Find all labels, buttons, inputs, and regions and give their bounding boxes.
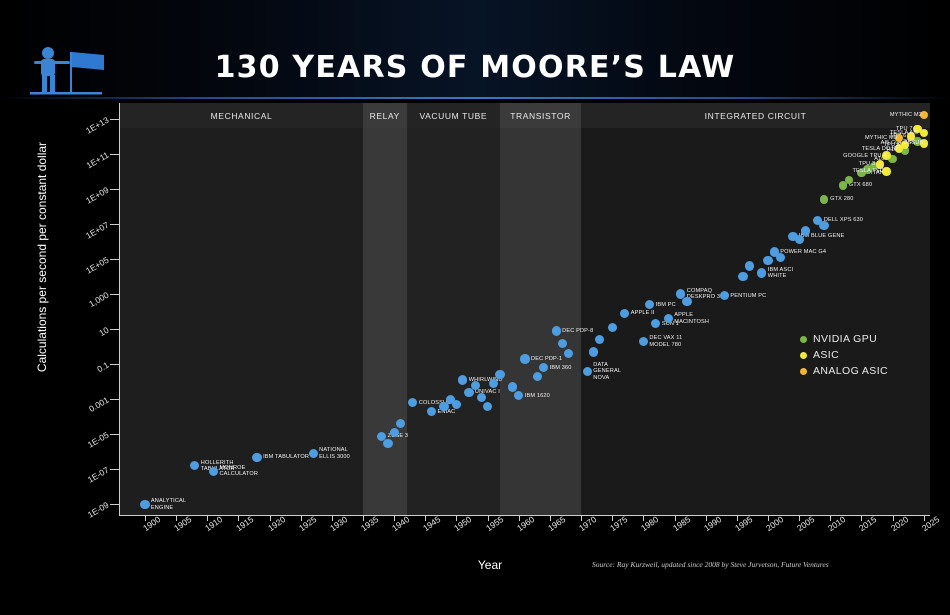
y-axis-tick-label: 1E-09 bbox=[54, 500, 111, 539]
header-divider bbox=[0, 97, 950, 99]
y-axis-tick bbox=[110, 364, 119, 365]
data-point-label: GTX 680 bbox=[849, 182, 872, 188]
data-point[interactable] bbox=[508, 382, 517, 391]
data-point[interactable] bbox=[639, 337, 648, 346]
source-credit: Source: Ray Kurzweil, updated since 2008… bbox=[592, 560, 829, 569]
data-point-label: DELL XPS 630 bbox=[824, 217, 863, 223]
data-point-label: GOOGLE TPU 4 bbox=[843, 153, 886, 159]
y-axis-title: Calculations per second per constant dol… bbox=[35, 107, 49, 407]
data-point[interactable] bbox=[738, 272, 747, 281]
data-point[interactable] bbox=[520, 354, 529, 363]
data-point-label: GTX 280 bbox=[830, 196, 853, 202]
data-point[interactable] bbox=[390, 428, 399, 437]
data-point-label: IBM 1620 bbox=[525, 393, 550, 399]
data-point[interactable] bbox=[608, 323, 617, 332]
data-point-label: POWER MAC G4 bbox=[780, 249, 826, 255]
era-band bbox=[363, 103, 407, 515]
data-point-label: MONROE CALCULATOR bbox=[219, 465, 258, 478]
data-point-label: TESLA FSD bbox=[852, 168, 884, 174]
y-axis-tick bbox=[110, 504, 119, 505]
y-axis-tick-label: 1E+07 bbox=[54, 220, 111, 259]
y-axis-tick bbox=[110, 399, 119, 400]
data-point[interactable] bbox=[458, 375, 467, 384]
y-axis-tick bbox=[110, 154, 119, 155]
y-axis-tick-label: 1E-05 bbox=[54, 430, 111, 469]
x-axis-tick bbox=[301, 515, 302, 521]
y-axis-tick bbox=[110, 329, 119, 330]
data-point[interactable] bbox=[309, 449, 318, 458]
data-point[interactable] bbox=[471, 381, 480, 390]
legend-item[interactable]: ASIC bbox=[800, 349, 888, 361]
legend-swatch bbox=[800, 352, 807, 359]
data-point[interactable] bbox=[533, 372, 542, 381]
data-point[interactable] bbox=[664, 314, 673, 323]
header-banner: 130 YEARS OF MOORE’S LAW bbox=[0, 0, 950, 98]
data-point-label: DEC PDP-1 bbox=[531, 356, 562, 362]
legend-item[interactable]: NVIDIA GPU bbox=[800, 333, 888, 345]
legend-label: ANALOG ASIC bbox=[813, 365, 888, 377]
data-point[interactable] bbox=[801, 226, 810, 235]
data-point-label: MYTHIC M2 bbox=[890, 112, 922, 118]
data-point[interactable] bbox=[495, 370, 504, 379]
x-axis-tick bbox=[675, 515, 676, 521]
data-point[interactable] bbox=[383, 439, 392, 448]
legend-label: ASIC bbox=[813, 349, 839, 361]
data-point[interactable] bbox=[757, 268, 766, 277]
y-axis-tick-label: 10 bbox=[54, 325, 111, 364]
y-axis-tick bbox=[110, 469, 119, 470]
plot-area bbox=[120, 103, 930, 515]
data-point[interactable] bbox=[776, 253, 785, 262]
data-point[interactable] bbox=[819, 221, 828, 230]
y-axis-tick-label: 0.001 bbox=[54, 395, 111, 434]
data-point[interactable] bbox=[209, 467, 218, 476]
data-point-label: TPU 3 bbox=[859, 161, 876, 167]
data-point-label: IBM ASCI WHITE bbox=[768, 267, 793, 280]
era-strip: MECHANICALRELAYVACUUM TUBETRANSISTORINTE… bbox=[120, 103, 930, 128]
era-label: RELAY bbox=[363, 111, 407, 121]
y-axis-tick-label: 1E+13 bbox=[54, 114, 111, 153]
y-axis-tick-label: 1E+11 bbox=[54, 149, 111, 188]
era-band bbox=[500, 103, 581, 515]
x-axis-tick bbox=[893, 515, 894, 521]
x-axis-tick bbox=[488, 515, 489, 521]
y-axis-line bbox=[119, 103, 120, 515]
data-point[interactable] bbox=[589, 347, 598, 356]
data-point[interactable] bbox=[558, 339, 567, 348]
legend-swatch bbox=[800, 336, 807, 343]
y-axis-tick bbox=[110, 294, 119, 295]
x-axis-tick bbox=[706, 515, 707, 521]
x-axis-tick bbox=[270, 515, 271, 521]
data-point-label: DEC VAX 11 MODEL 780 bbox=[649, 335, 682, 348]
data-point[interactable] bbox=[745, 261, 754, 270]
data-point[interactable] bbox=[682, 297, 691, 306]
y-axis-tick-label: 1E+05 bbox=[54, 255, 111, 294]
data-point-label: IBM 360 bbox=[550, 365, 572, 371]
legend-label: NVIDIA GPU bbox=[813, 333, 877, 345]
y-axis-tick bbox=[110, 434, 119, 435]
x-axis-title: Year bbox=[400, 558, 580, 572]
y-axis-tick-label: 1E-07 bbox=[54, 465, 111, 504]
data-point[interactable] bbox=[140, 500, 149, 509]
y-axis-tick-label: 0.1 bbox=[54, 360, 111, 399]
data-point[interactable] bbox=[820, 195, 828, 203]
y-axis-tick-label: 1,000 bbox=[54, 290, 111, 329]
legend-swatch bbox=[800, 368, 807, 375]
data-point-label: IBM TABULATOR bbox=[263, 454, 309, 460]
era-label: TRANSISTOR bbox=[500, 111, 581, 121]
y-axis-tick-label: 1E+09 bbox=[54, 185, 111, 224]
era-band bbox=[407, 103, 500, 515]
y-axis-tick bbox=[110, 119, 119, 120]
page-title: 130 YEARS OF MOORE’S LAW bbox=[0, 50, 950, 85]
era-label: VACUUM TUBE bbox=[407, 111, 500, 121]
data-point-label: APPLE II bbox=[631, 310, 655, 316]
legend: NVIDIA GPUASICANALOG ASIC bbox=[800, 333, 888, 381]
data-point[interactable] bbox=[583, 367, 592, 376]
data-point-label: DATA GENERAL NOVA bbox=[593, 362, 621, 381]
legend-item[interactable]: ANALOG ASIC bbox=[800, 365, 888, 377]
data-point-label: ANALYTICAL ENGINE bbox=[151, 498, 186, 511]
y-axis-tick bbox=[110, 259, 119, 260]
y-axis-tick bbox=[110, 189, 119, 190]
data-point-label: DEC PDP-8 bbox=[562, 328, 593, 334]
era-label: MECHANICAL bbox=[120, 111, 363, 121]
data-point-label: IBM PC bbox=[656, 302, 676, 308]
data-point[interactable] bbox=[477, 393, 486, 402]
data-point[interactable] bbox=[552, 326, 561, 335]
data-point[interactable] bbox=[483, 402, 492, 411]
moores-law-chart-page: 130 YEARS OF MOORE’S LAW MECHANICALRELAY… bbox=[0, 0, 950, 615]
y-axis-tick bbox=[110, 224, 119, 225]
data-point[interactable] bbox=[763, 256, 772, 265]
data-point-label: APPLE MACINTOSH bbox=[674, 312, 709, 325]
data-point[interactable] bbox=[252, 453, 261, 462]
data-point[interactable] bbox=[920, 129, 928, 137]
data-point[interactable] bbox=[795, 235, 804, 244]
era-label: INTEGRATED CIRCUIT bbox=[581, 111, 930, 121]
data-point-label: MYTHIC M0 bbox=[865, 135, 897, 141]
data-point-label: PENTIUM PC bbox=[730, 293, 766, 299]
data-point-label: NATIONAL ELLIS 3000 bbox=[319, 447, 350, 460]
